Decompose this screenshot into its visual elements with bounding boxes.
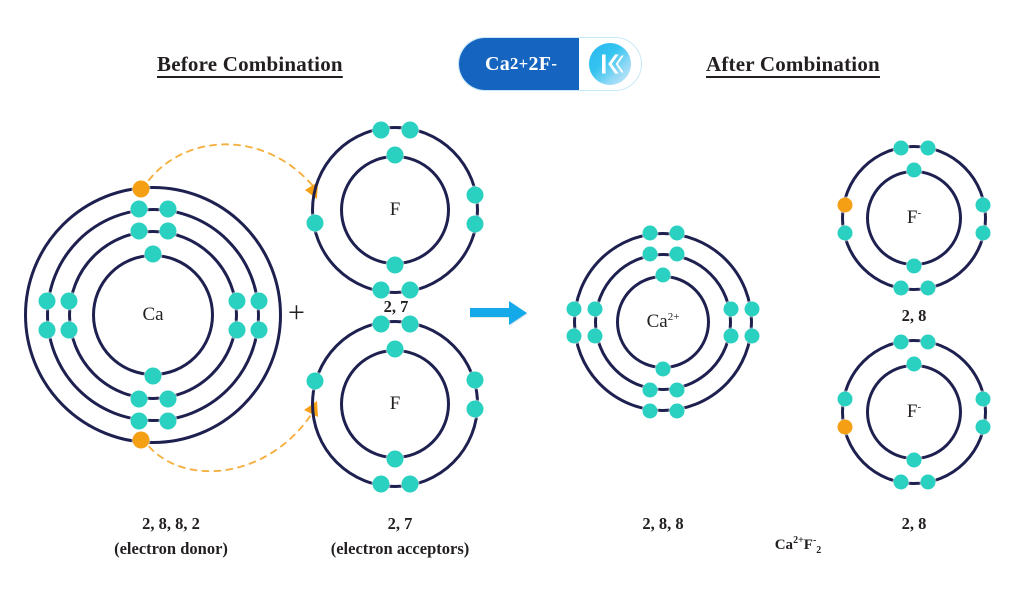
ca-electron-shell3-1 [131,201,148,218]
f-ion-bottom-electron-shell2-2 [921,335,936,350]
ca-ion-electron-shell2-8 [724,329,739,344]
f-ion-bottom-electron-shell2-7 [976,392,991,407]
f-bottom-electron-shell1-bottom [387,451,404,468]
f-ion-top-symbol: F [907,207,918,228]
ca-ion-electron-shell2-4 [670,383,685,398]
ca-electron-shell2-8 [229,322,246,339]
f-top-electron-shell2-7 [467,216,484,233]
f-bottom-electron-shell2-1 [373,316,390,333]
f-ion-top-electron-shell2-7 [976,198,991,213]
f-ion-bottom-electron-shell2-1 [894,335,909,350]
f-bottom-electron-shell2-7 [467,401,484,418]
f-ion-top-electron-shell2-6 [838,226,853,241]
ca-electron-shell3-8 [251,322,268,339]
f-bottom-electron-shell2-4 [402,476,419,493]
ca-electron-shell3-3 [131,413,148,430]
f-ion-top-electron-shell2-4 [921,281,936,296]
f-bottom-nucleus-label: F [390,393,401,415]
f-bottom-electron-shell2-6 [467,372,484,389]
product-ca: Ca [775,537,793,553]
ca-electron-shell3-6 [39,322,56,339]
f-top-electron-shell2-1 [373,122,390,139]
ion-fluoride-top: F- [841,145,987,291]
ca-ion-nucleus-label: Ca2+ [647,311,680,333]
ca-electron-shell3-5 [39,293,56,310]
f-top-electron-shell2-6 [467,187,484,204]
f-ion-top-charge: - [917,207,921,219]
f-ion-bottom-nucleus-label: F- [907,401,921,423]
atom-fluorine-top: F [311,126,479,294]
ca-configuration-label: 2, 8, 8, 2 [66,514,276,534]
f-ion-top-electron-shell1-bottom [907,259,922,274]
ca-electron-shell2-6 [61,322,78,339]
f-bottom-electron-shell1-top [387,341,404,358]
product-ca-charge: 2+ [793,535,804,546]
ion-calcium-2plus: Ca2+ [573,232,753,412]
ca-ion-electron-shell1-bottom [656,362,671,377]
f-top-electron-shell2-3 [373,282,390,299]
ca-role-label: (electron donor) [66,539,276,559]
ca-valence-electron-top [133,181,150,198]
f-ion-top-electron-shell2-3 [894,281,909,296]
ca-electron-shell2-3 [131,391,148,408]
ca-electron-shell2-4 [160,391,177,408]
f-ion-bottom-electron-shell1-bottom [907,453,922,468]
ca-ion-electron-shell2-3 [643,383,658,398]
atom-calcium: Ca [24,186,282,444]
ca-ion-electron-shell3-5 [567,302,582,317]
ca-ion-electron-shell2-7 [724,302,739,317]
ca-ion-electron-shell3-8 [745,329,760,344]
f-ion-top-electron-shell2-2 [921,141,936,156]
ca-ion-electron-shell3-7 [745,302,760,317]
f-ion-bottom-electron-shell2-4 [921,475,936,490]
f-ion-top-configuration: 2, 8 [854,306,974,326]
ca-electron-shell2-5 [61,293,78,310]
f-top-electron-shell1-bottom [387,257,404,274]
ca-ion-electron-shell1-top [656,268,671,283]
ca-ion-configuration-label: 2, 8, 8 [588,514,738,534]
f-ion-top-electron-shell2-8 [976,226,991,241]
plus-operator: + [288,298,305,328]
ca-electron-shell3-7 [251,293,268,310]
ca-ion-electron-shell3-6 [567,329,582,344]
f-bottom-electron-shell2-2 [402,316,419,333]
ca-ion-electron-shell3-4 [670,404,685,419]
ca-ion-electron-shell3-2 [670,226,685,241]
ca-ion-electron-shell2-5 [588,302,603,317]
ca-electron-shell3-4 [160,413,177,430]
ca-electron-shell1-bottom [145,368,162,385]
ca-ion-charge: 2+ [668,311,680,323]
f-ion-bottom-configuration-label: 2, 8 [854,514,974,534]
f-ion-bottom-electron-shell2-8 [976,420,991,435]
ca-electron-shell2-7 [229,293,246,310]
ca-electron-shell2-2 [160,223,177,240]
f-ion-top-nucleus-label: F- [907,207,921,229]
atom-fluorine-bottom: F [311,320,479,488]
product-f-count: 2 [816,545,821,556]
ion-fluoride-bottom: F- [841,339,987,485]
f-top-configuration: 2, 7 [336,297,456,317]
f-top-electron-shell2-4 [402,282,419,299]
f-ion-bottom-electron-shell2-5 [838,392,853,407]
ca-ion-electron-shell2-1 [643,247,658,262]
f-ion-bottom-gained-electron [838,420,853,435]
f-ion-top-gained-electron [838,198,853,213]
f-top-electron-shell1-top [387,147,404,164]
f-ion-bottom-charge: - [917,401,921,413]
ca-electron-shell2-1 [131,223,148,240]
ca-electron-shell3-2 [160,201,177,218]
reaction-arrow [468,298,532,334]
f-bottom-electron-shell2-3 [373,476,390,493]
f-ion-top-electron-shell2-1 [894,141,909,156]
f-ion-bottom-electron-shell2-3 [894,475,909,490]
ca-ion-electron-shell2-6 [588,329,603,344]
transfer-path-upper [142,144,313,190]
ca-ion-electron-shell2-2 [670,247,685,262]
f-ion-bottom-electron-shell1-top [907,357,922,372]
f-bottom-electron-shell2-5 [307,373,324,390]
ca-valence-electron-bottom [133,432,150,449]
ca-nucleus-label: Ca [142,304,163,326]
f-top-electron-shell2-5 [307,215,324,232]
product-f: F [804,537,813,553]
f-top-electron-shell2-2 [402,122,419,139]
f-bottom-configuration-label: 2, 7 [300,514,500,534]
f-ion-bottom-symbol: F [907,401,918,422]
f-role-label: (electron acceptors) [300,539,500,559]
ca-ion-electron-shell3-3 [643,404,658,419]
ca-electron-shell1-top [145,246,162,263]
f-top-nucleus-label: F [390,199,401,221]
ca-ion-symbol: Ca [647,311,668,332]
ca-ion-electron-shell3-1 [643,226,658,241]
product-formula-label: Ca2+F-2 [728,535,868,556]
f-ion-top-electron-shell1-top [907,163,922,178]
